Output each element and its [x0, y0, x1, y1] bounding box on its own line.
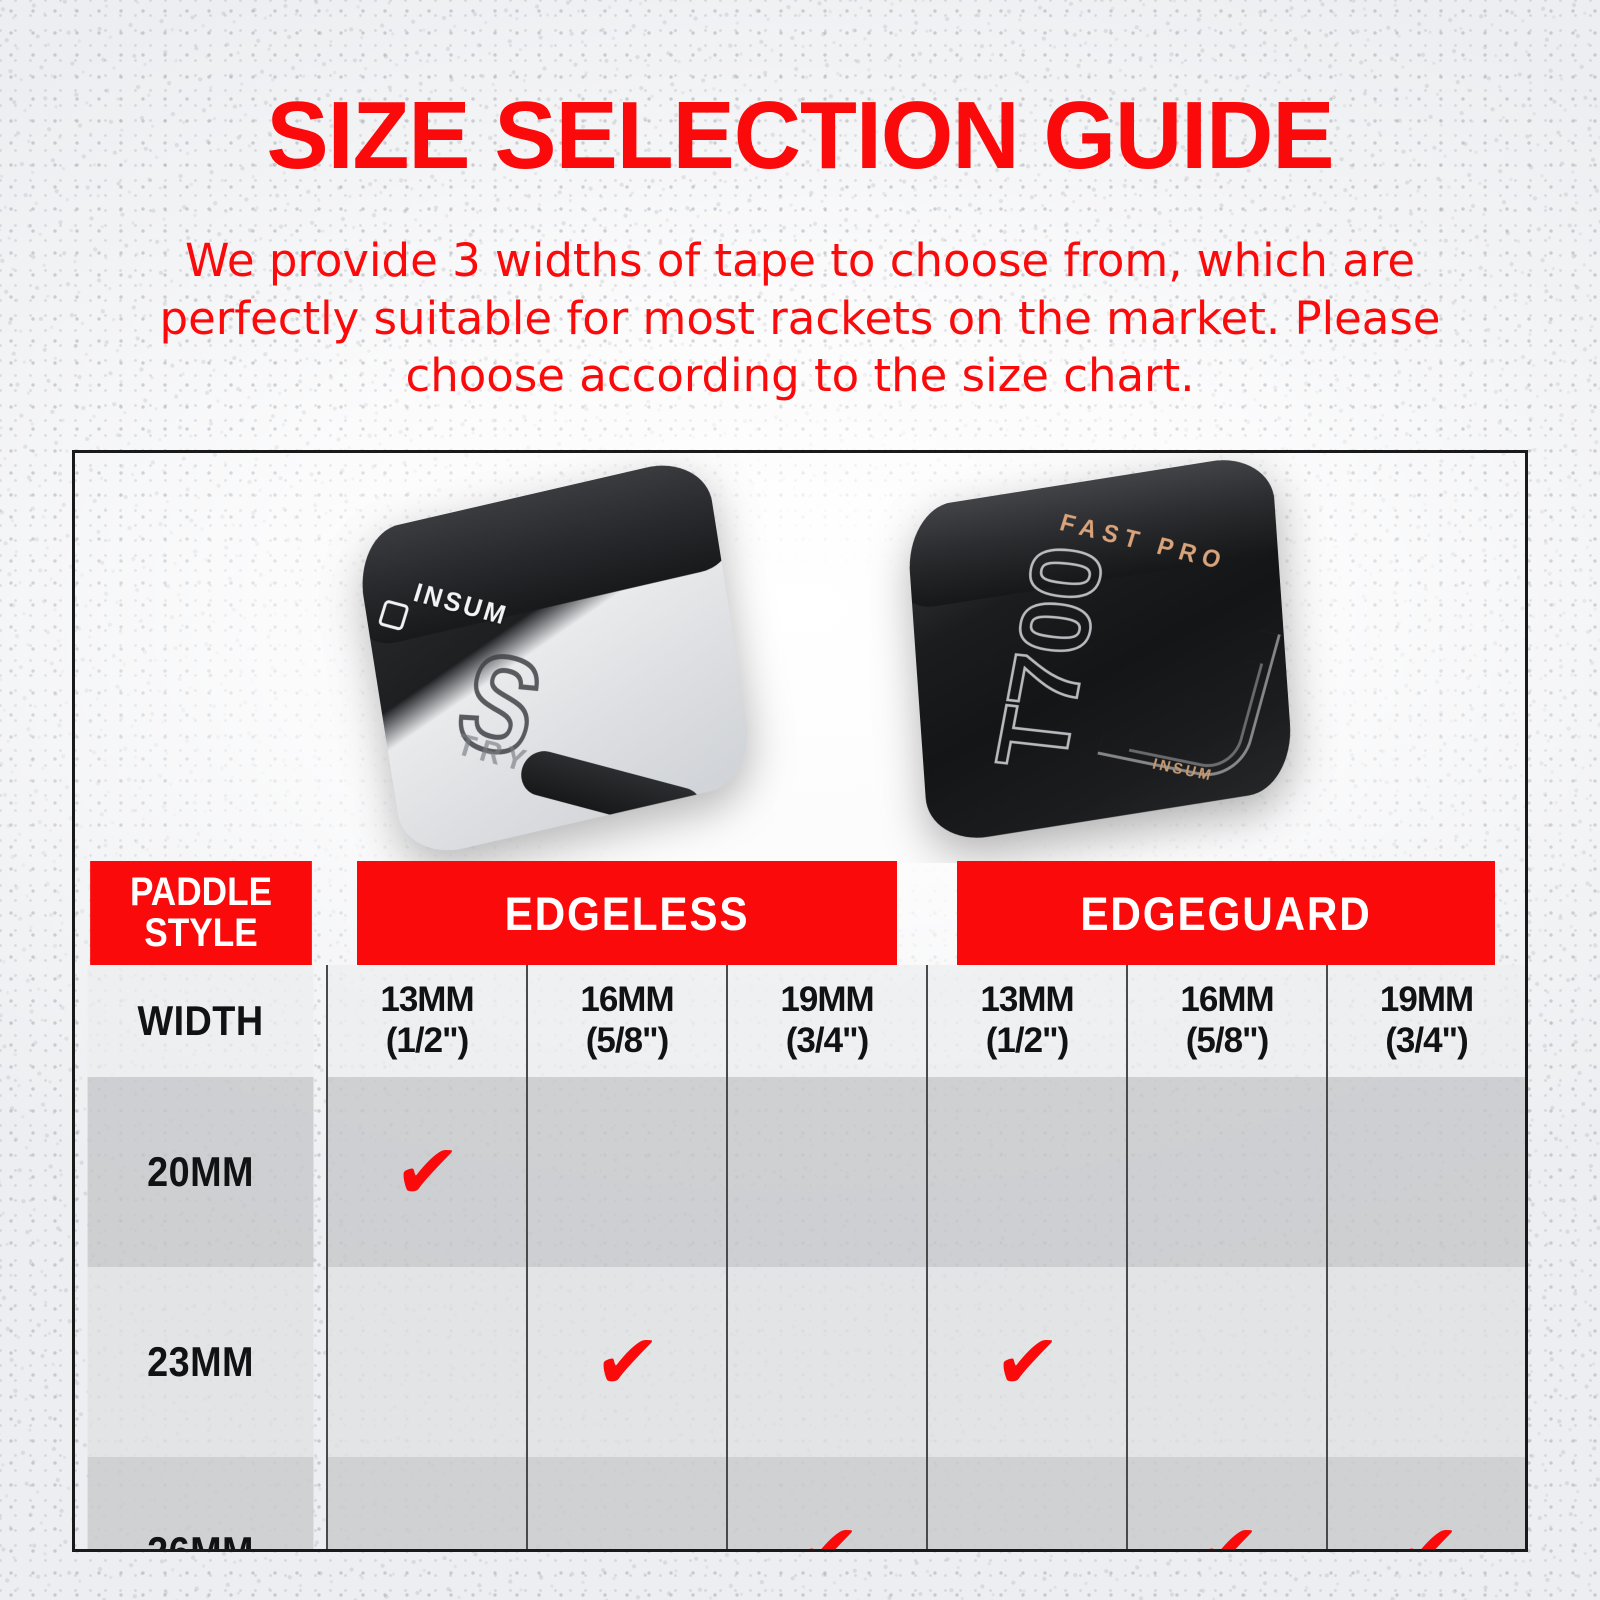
- table-row-20mm: 20MM ✔ ✔ ✔ ✔ ✔ ✔: [75, 1077, 1525, 1267]
- header-section-edgeguard: EDGEGUARD: [957, 861, 1495, 965]
- width-cell-2: 16MM (5/8"): [527, 965, 727, 1077]
- check-icon-23mm-col4: ✔: [991, 1324, 1063, 1400]
- header-paddle-style-line1: PADDLE: [90, 872, 312, 913]
- width-cell-3-mm: 19MM: [780, 980, 873, 1019]
- cell-26mm-col6: ✔: [1327, 1457, 1525, 1552]
- paddle-image-edgeguard: T700 FAST PRO INSUM: [906, 453, 1295, 846]
- width-cell-4-mm: 13MM: [980, 980, 1073, 1019]
- page-subtitle: We provide 3 widths of tape to choose fr…: [150, 232, 1450, 405]
- paddle-left-body: INSUM S TRY: [354, 454, 757, 862]
- table-header-row: PADDLE STYLE EDGELESS EDGEGUARD: [75, 861, 1525, 965]
- cell-23mm-col6: ✔: [1327, 1267, 1525, 1457]
- row-label-width: WIDTH: [88, 965, 315, 1077]
- paddle-left-rim: [354, 454, 730, 649]
- width-cell-5-mm: 16MM: [1180, 980, 1273, 1019]
- table-row-23mm: 23MM ✔ ✔ ✔ ✔ ✔ ✔: [75, 1267, 1525, 1457]
- width-cell-1-mm: 13MM: [380, 980, 473, 1019]
- table-row-width: WIDTH 13MM (1/2") 16MM (5/8") 19MM (3/4"…: [75, 965, 1525, 1077]
- product-photo-stage: INSUM S TRY T700 FAST PRO INSUM: [75, 453, 1525, 863]
- table-row-26mm: 26MM ✔ ✔ ✔ ✔ ✔ ✔: [75, 1457, 1525, 1552]
- width-cell-1: 13MM (1/2"): [327, 965, 527, 1077]
- header-paddle-style: PADDLE STYLE: [90, 861, 312, 965]
- cell-26mm-col1: ✔: [327, 1457, 527, 1552]
- row-label-26mm: 26MM: [88, 1457, 315, 1552]
- width-cell-5: 16MM (5/8"): [1127, 965, 1327, 1077]
- row-label-23mm: 23MM: [88, 1267, 315, 1457]
- paddle-left-handle: [516, 746, 708, 837]
- cell-23mm-col2: ✔: [527, 1267, 727, 1457]
- cell-20mm-col1: ✔: [327, 1077, 527, 1267]
- cell-23mm-col1: ✔: [327, 1267, 527, 1457]
- check-icon-23mm-col2: ✔: [591, 1324, 663, 1400]
- size-chart-panel: INSUM S TRY T700 FAST PRO INSUM: [72, 450, 1528, 1552]
- width-cell-5-inch: (5/8"): [1128, 1021, 1326, 1062]
- row-label-20mm: 20MM: [88, 1077, 315, 1267]
- cell-26mm-col2: ✔: [527, 1457, 727, 1552]
- paddle-image-edgeless: INSUM S TRY: [354, 454, 757, 862]
- width-cell-2-mm: 16MM: [580, 980, 673, 1019]
- cell-26mm-col3: ✔: [727, 1457, 927, 1552]
- paddle-right-body: T700 FAST PRO INSUM: [906, 453, 1295, 846]
- cell-20mm-col5: ✔: [1127, 1077, 1327, 1267]
- check-icon-20mm-col1: ✔: [391, 1134, 463, 1210]
- width-cell-4: 13MM (1/2"): [927, 965, 1127, 1077]
- check-icon-26mm-col3: ✔: [791, 1514, 863, 1552]
- cell-26mm-col4: ✔: [927, 1457, 1127, 1552]
- header-paddle-style-line2: STYLE: [90, 913, 312, 954]
- width-cell-1-inch: (1/2"): [328, 1021, 526, 1062]
- cell-20mm-col3: ✔: [727, 1077, 927, 1267]
- size-selection-guide-page: SIZE SELECTION GUIDE We provide 3 widths…: [0, 0, 1600, 1600]
- page-title: SIZE SELECTION GUIDE: [24, 88, 1576, 184]
- check-icon-26mm-col5: ✔: [1191, 1514, 1263, 1552]
- width-cell-3: 19MM (3/4"): [727, 965, 927, 1077]
- width-cell-6-inch: (3/4"): [1328, 1021, 1525, 1062]
- header-section-edgeless: EDGELESS: [357, 861, 897, 965]
- width-cell-6: 19MM (3/4"): [1327, 965, 1525, 1077]
- width-cell-3-inch: (3/4"): [728, 1021, 926, 1062]
- cell-20mm-col6: ✔: [1327, 1077, 1525, 1267]
- cell-23mm-col4: ✔: [927, 1267, 1127, 1457]
- cell-20mm-col4: ✔: [927, 1077, 1127, 1267]
- width-cell-4-inch: (1/2"): [928, 1021, 1126, 1062]
- size-chart-table: PADDLE STYLE EDGELESS EDGEGUARD WIDTH 13…: [75, 861, 1525, 1552]
- check-icon-26mm-col6: ✔: [1391, 1514, 1463, 1552]
- width-cell-6-mm: 19MM: [1380, 980, 1473, 1019]
- cell-23mm-col5: ✔: [1127, 1267, 1327, 1457]
- width-cell-2-inch: (5/8"): [528, 1021, 726, 1062]
- cell-23mm-col3: ✔: [727, 1267, 927, 1457]
- cell-26mm-col5: ✔: [1127, 1457, 1327, 1552]
- cell-20mm-col2: ✔: [527, 1077, 727, 1267]
